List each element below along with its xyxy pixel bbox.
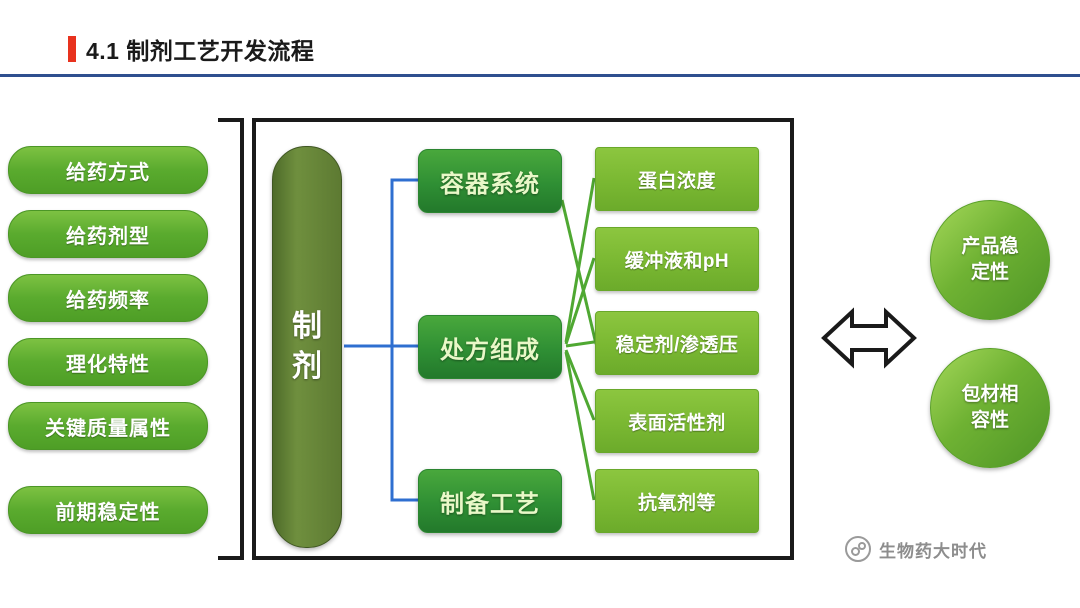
process-bracket-close bbox=[768, 118, 794, 560]
detail-box-label: 抗氧剂等 bbox=[638, 488, 716, 515]
detail-box-protein-concentration[interactable]: 蛋白浓度 bbox=[595, 147, 759, 211]
capsule-line-1: 制 bbox=[292, 307, 322, 348]
wechat-logo-icon bbox=[845, 536, 871, 562]
detail-box-label: 蛋白浓度 bbox=[638, 166, 716, 193]
outcome-line-1: 包材相 bbox=[961, 382, 1018, 408]
page-header: 4.1 制剂工艺开发流程 bbox=[0, 0, 1080, 76]
outcome-circle-product-stability[interactable]: 产品稳 定性 bbox=[930, 200, 1050, 320]
branch-box-container-system[interactable]: 容器系统 bbox=[418, 149, 562, 213]
input-item-label: 给药方式 bbox=[66, 156, 150, 185]
input-item-2[interactable]: 给药剂型 bbox=[8, 210, 208, 258]
center-capsule[interactable]: 制 剂 bbox=[272, 146, 342, 548]
header-accent-bar bbox=[68, 36, 76, 62]
input-item-label: 理化特性 bbox=[66, 348, 150, 377]
input-item-1[interactable]: 给药方式 bbox=[8, 146, 208, 194]
detail-box-buffer-ph[interactable]: 缓冲液和pH bbox=[595, 227, 759, 291]
input-item-4[interactable]: 理化特性 bbox=[8, 338, 208, 386]
detail-box-stabilizer-osmolality[interactable]: 稳定剂/渗透压 bbox=[595, 311, 759, 375]
input-item-6[interactable]: 前期稳定性 bbox=[8, 486, 208, 534]
page-title: 4.1 制剂工艺开发流程 bbox=[86, 32, 314, 66]
header-divider bbox=[0, 74, 1080, 77]
input-item-label: 给药频率 bbox=[66, 284, 150, 313]
input-item-3[interactable]: 给药频率 bbox=[8, 274, 208, 322]
double-arrow-icon bbox=[824, 312, 914, 364]
outcome-line-2: 容性 bbox=[961, 408, 1018, 434]
branch-box-label: 处方组成 bbox=[440, 330, 540, 365]
outcome-line-2: 定性 bbox=[961, 260, 1018, 286]
outcome-line-1: 产品稳 bbox=[961, 234, 1018, 260]
detail-box-label: 缓冲液和pH bbox=[625, 246, 729, 273]
input-item-label: 前期稳定性 bbox=[56, 496, 161, 525]
detail-box-surfactant[interactable]: 表面活性剂 bbox=[595, 389, 759, 453]
outcome-circle-text: 包材相 容性 bbox=[961, 382, 1018, 433]
detail-box-antioxidant[interactable]: 抗氧剂等 bbox=[595, 469, 759, 533]
center-capsule-label: 制 剂 bbox=[292, 307, 322, 388]
branch-box-process[interactable]: 制备工艺 bbox=[418, 469, 562, 533]
watermark: 生物药大时代 bbox=[845, 536, 987, 562]
detail-box-label: 表面活性剂 bbox=[628, 408, 726, 435]
branch-box-formulation[interactable]: 处方组成 bbox=[418, 315, 562, 379]
input-item-5[interactable]: 关键质量属性 bbox=[8, 402, 208, 450]
input-item-label: 给药剂型 bbox=[66, 220, 150, 249]
outcome-circle-packaging-compatibility[interactable]: 包材相 容性 bbox=[930, 348, 1050, 468]
detail-box-label: 稳定剂/渗透压 bbox=[616, 330, 739, 357]
outcome-circle-text: 产品稳 定性 bbox=[961, 234, 1018, 285]
left-bracket bbox=[218, 118, 244, 560]
capsule-line-2: 剂 bbox=[292, 347, 322, 388]
branch-box-label: 容器系统 bbox=[440, 164, 540, 199]
branch-box-label: 制备工艺 bbox=[440, 484, 540, 519]
watermark-label: 生物药大时代 bbox=[879, 537, 987, 562]
input-item-label: 关键质量属性 bbox=[45, 412, 171, 441]
